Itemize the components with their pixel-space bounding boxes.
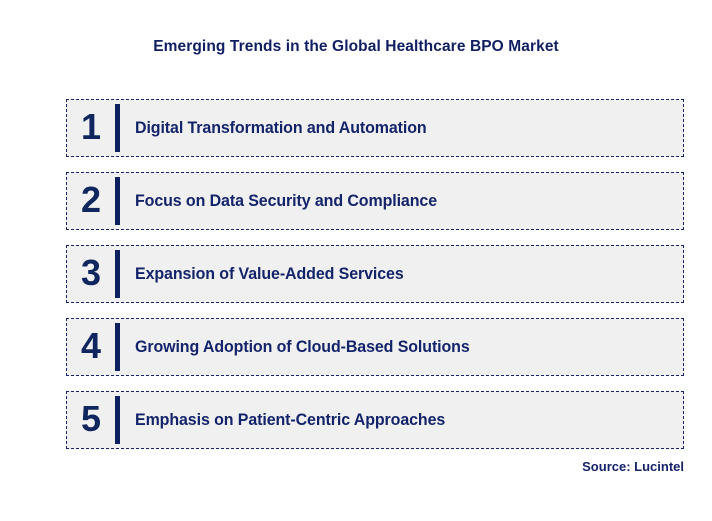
vertical-divider-icon — [115, 396, 120, 444]
trend-row[interactable]: 4 Growing Adoption of Cloud-Based Soluti… — [66, 318, 684, 376]
trend-list: 1 Digital Transformation and Automation … — [66, 99, 684, 449]
trend-label: Growing Adoption of Cloud-Based Solution… — [135, 337, 650, 357]
page-title: Emerging Trends in the Global Healthcare… — [0, 38, 712, 56]
vertical-divider-icon — [115, 250, 120, 298]
vertical-divider-icon — [115, 323, 120, 371]
trend-row[interactable]: 5 Emphasis on Patient-Centric Approaches — [66, 391, 684, 449]
trend-number: 2 — [67, 182, 115, 220]
trend-row[interactable]: 2 Focus on Data Security and Compliance — [66, 172, 684, 230]
vertical-divider-icon — [115, 104, 120, 152]
trend-label: Digital Transformation and Automation — [135, 118, 650, 138]
trend-label: Expansion of Value-Added Services — [135, 264, 650, 284]
trend-label: Focus on Data Security and Compliance — [135, 191, 650, 211]
trend-number: 5 — [67, 401, 115, 439]
trend-number: 3 — [67, 255, 115, 293]
trend-number: 4 — [67, 328, 115, 366]
source-attribution: Source: Lucintel — [582, 459, 684, 474]
vertical-divider-icon — [115, 177, 120, 225]
infographic-page: Emerging Trends in the Global Healthcare… — [0, 0, 712, 521]
trend-row[interactable]: 3 Expansion of Value-Added Services — [66, 245, 684, 303]
trend-row[interactable]: 1 Digital Transformation and Automation — [66, 99, 684, 157]
trend-number: 1 — [67, 109, 115, 147]
trend-label: Emphasis on Patient-Centric Approaches — [135, 410, 650, 430]
